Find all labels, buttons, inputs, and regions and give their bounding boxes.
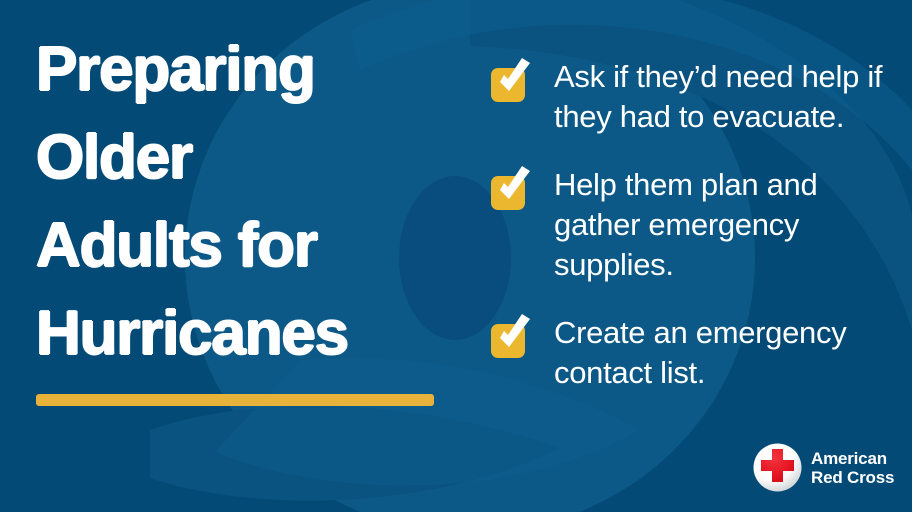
- headline-line-2: Older: [36, 114, 466, 202]
- checklist: Ask if they’d need help if they had to e…: [491, 57, 893, 393]
- list-item: Help them plan and gather emergency supp…: [491, 165, 893, 285]
- list-item-label: Ask if they’d need help if they had to e…: [554, 57, 893, 137]
- logo-wordmark-line-2: Red Cross: [811, 468, 894, 487]
- list-item: Ask if they’d need help if they had to e…: [491, 57, 893, 137]
- headline-line-1: Preparing: [36, 26, 466, 114]
- list-item-label: Create an emergency contact list.: [554, 313, 893, 393]
- list-item: Create an emergency contact list.: [491, 313, 893, 393]
- headline-underline-rule: [36, 394, 434, 406]
- headline-block: Preparing Older Adults for Hurricanes: [36, 26, 466, 378]
- checkbox-checked-icon: [491, 170, 525, 204]
- american-red-cross-logo: American Red Cross: [753, 443, 894, 492]
- headline-line-4: Hurricanes: [36, 290, 466, 378]
- headline-line-3: Adults for: [36, 202, 466, 290]
- logo-wordmark: American Red Cross: [811, 449, 894, 487]
- checkbox-checked-icon: [491, 62, 525, 96]
- checkbox-checked-icon: [491, 318, 525, 352]
- logo-wordmark-line-1: American: [811, 449, 894, 468]
- list-item-label: Help them plan and gather emergency supp…: [554, 165, 893, 285]
- red-cross-icon: [753, 443, 802, 492]
- poster-canvas: Preparing Older Adults for Hurricanes As…: [0, 0, 912, 512]
